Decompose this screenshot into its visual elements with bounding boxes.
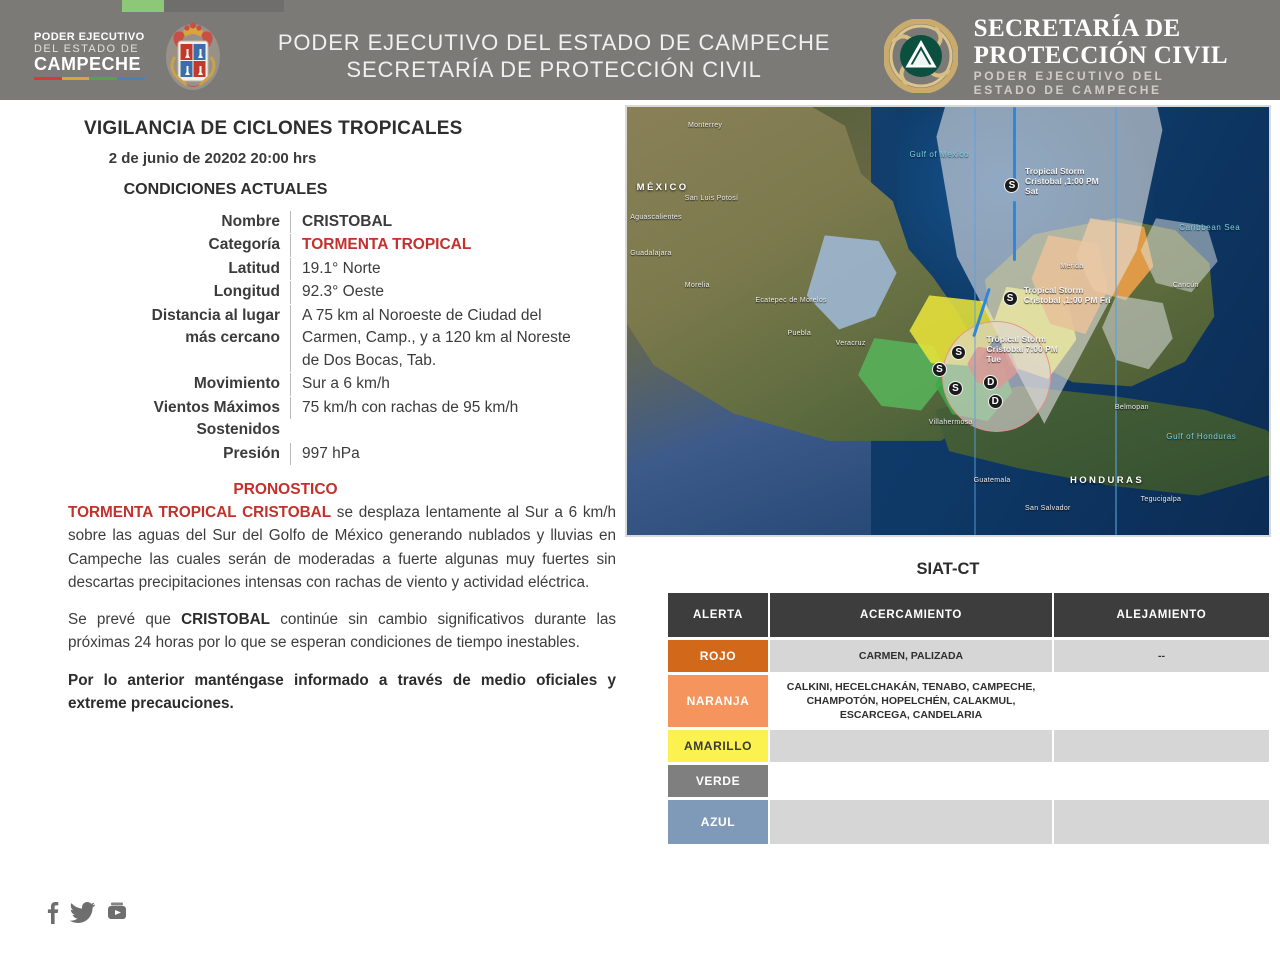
page-header: PODER EJECUTIVO DEL ESTADO DE CAMPECHE xyxy=(0,12,1280,100)
storm-marker-label: Tropical Storm Cristobal ,1:00 PM Sat xyxy=(1025,166,1099,196)
map-city-label: Tegucigalpa xyxy=(1141,496,1182,503)
fact-label: Movimiento xyxy=(118,373,290,395)
map-city-label: San Salvador xyxy=(1025,505,1071,512)
map-city-label: Belmopan xyxy=(1115,404,1149,411)
storm-marker[interactable]: D xyxy=(988,394,1003,409)
map-meridian-line-1 xyxy=(1115,107,1117,535)
top-accent-strip xyxy=(0,0,1280,12)
acercamiento-cell xyxy=(770,765,1052,797)
campeche-coat-of-arms-icon xyxy=(161,19,225,93)
fact-value: CRISTOBAL xyxy=(290,211,588,233)
fact-value: TORMENTA TROPICAL xyxy=(290,234,588,256)
forecast-paragraph-2: Se prevé que CRISTOBAL continúe sin camb… xyxy=(68,608,616,655)
alert-level-badge: AMARILLO xyxy=(668,730,768,762)
map-sea-label: Caribbean Sea xyxy=(1179,223,1240,232)
acercamiento-cell xyxy=(770,730,1052,762)
fact-row: Latitud 19.1° Norte xyxy=(118,258,588,280)
facebook-icon[interactable] xyxy=(46,900,59,924)
map-city-label: Cancún xyxy=(1173,282,1199,289)
map-city-label: Ecatepec de Morelos xyxy=(755,297,826,304)
fact-row: Vientos Máximos Sostenidos 75 km/h con r… xyxy=(118,397,588,442)
fact-label: Categoría xyxy=(118,234,290,256)
fact-label: Vientos Máximos Sostenidos xyxy=(118,397,290,442)
forecast-heading: PRONOSTICO xyxy=(0,481,611,499)
fact-label: Nombre xyxy=(118,211,290,233)
fact-value: 92.3° Oeste xyxy=(290,281,588,303)
fact-row: Categoría TORMENTA TROPICAL xyxy=(118,234,588,256)
acercamiento-cell: CARMEN, PALIZADA xyxy=(770,640,1052,672)
fact-label: Presión xyxy=(118,443,290,465)
fact-row: Presión 997 hPa xyxy=(118,443,588,465)
alejamiento-cell xyxy=(1054,800,1269,844)
youtube-icon[interactable] xyxy=(107,900,127,924)
map-and-table-column: S Tropical Storm Cristobal ,1:00 PM Sat … xyxy=(625,105,1280,958)
map-canvas: S Tropical Storm Cristobal ,1:00 PM Sat … xyxy=(627,107,1269,535)
alert-level-badge: AZUL xyxy=(668,800,768,844)
map-city-label: Veracruz xyxy=(836,340,866,347)
fact-row: Movimiento Sur a 6 km/h xyxy=(118,373,588,395)
column-header-alerta: ALERTA xyxy=(668,593,768,637)
acercamiento-cell: CALKINI, HECELCHAKÁN, TENABO, CAMPECHE, … xyxy=(770,675,1052,727)
forecast-advisory: Por lo anterior manténgase informado a t… xyxy=(68,669,616,716)
green-accent-tab xyxy=(122,0,164,12)
forecast-paragraph-1: TORMENTA TROPICAL CRISTOBAL se desplaza … xyxy=(68,501,616,594)
storm-marker[interactable]: S xyxy=(1003,291,1018,306)
social-links xyxy=(46,900,127,924)
current-conditions-list: Nombre CRISTOBAL Categoría TORMENTA TROP… xyxy=(118,211,588,465)
header-right-logo: SECRETARÍA DE PROTECCIÓN CIVIL PODER EJE… xyxy=(884,15,1228,97)
map-city-label: Mérida xyxy=(1060,263,1083,270)
alejamiento-cell xyxy=(1054,730,1269,762)
twitter-icon[interactable] xyxy=(70,900,96,924)
fact-row: Nombre CRISTOBAL xyxy=(118,211,588,233)
map-meridian-line-2 xyxy=(974,107,976,535)
table-row: ROJO CARMEN, PALIZADA -- xyxy=(668,640,1269,672)
alejamiento-cell: -- xyxy=(1054,640,1269,672)
wordmark-color-rule xyxy=(34,77,145,80)
map-sea-label: Gulf of Mexico xyxy=(909,150,969,159)
acercamiento-cell xyxy=(770,800,1052,844)
hurricane-track-map[interactable]: S Tropical Storm Cristobal ,1:00 PM Sat … xyxy=(625,105,1271,537)
campeche-wordmark: PODER EJECUTIVO DEL ESTADO DE CAMPECHE xyxy=(34,32,145,80)
fact-label: Longitud xyxy=(118,281,290,303)
map-city-label: Puebla xyxy=(788,330,812,337)
map-country-label-honduras: HONDURAS xyxy=(1070,475,1144,486)
report-datetime: 2 de junio de 20202 20:00 hrs xyxy=(0,150,611,167)
map-city-label: Guadalajara xyxy=(630,250,671,257)
pc-line2: PROTECCIÓN CIVIL xyxy=(974,42,1228,69)
storm-marker[interactable]: S xyxy=(932,362,947,377)
siat-table-title: SIAT-CT xyxy=(625,560,1271,579)
map-city-label: Monterrey xyxy=(688,122,722,129)
forecast-storm-name: TORMENTA TROPICAL CRISTOBAL xyxy=(68,504,331,521)
map-city-label: Villahermosa xyxy=(929,419,973,426)
fact-label: Distancia al lugar más cercano xyxy=(118,305,290,350)
wordmark-line1: PODER EJECUTIVO xyxy=(34,32,145,44)
table-row: NARANJA CALKINI, HECELCHAKÁN, TENABO, CA… xyxy=(668,675,1269,727)
alert-level-badge: VERDE xyxy=(668,765,768,797)
fact-label: Latitud xyxy=(118,258,290,280)
table-row: AMARILLO xyxy=(668,730,1269,762)
alert-level-badge: ROJO xyxy=(668,640,768,672)
alejamiento-cell xyxy=(1054,765,1269,797)
alejamiento-cell xyxy=(1054,675,1269,727)
map-city-label: Guatemala xyxy=(974,477,1011,484)
pc-line1: SECRETARÍA DE xyxy=(974,15,1228,42)
wordmark-line3: CAMPECHE xyxy=(34,55,145,74)
fact-value: 997 hPa xyxy=(290,443,588,465)
header-title-line1: PODER EJECUTIVO DEL ESTADO DE CAMPECHE xyxy=(225,29,884,57)
map-country-label-mexico: MÉXICO xyxy=(637,182,689,193)
section-title-current-conditions: CONDICIONES ACTUALES xyxy=(0,181,611,199)
fact-value: Sur a 6 km/h xyxy=(290,373,588,395)
storm-marker-label: Tropical Storm Cristobal 7:00 PM Tue xyxy=(987,334,1058,364)
map-city-label: San Luis Potosí xyxy=(685,195,739,202)
siat-alert-table: ALERTA ACERCAMIENTO ALEJAMIENTO ROJO CAR… xyxy=(666,590,1271,847)
proteccion-civil-wordmark: SECRETARÍA DE PROTECCIÓN CIVIL PODER EJE… xyxy=(974,15,1228,97)
storm-marker[interactable]: S xyxy=(948,381,963,396)
map-city-label: Aguascalientes xyxy=(630,214,682,221)
pc-line4: ESTADO DE CAMPECHE xyxy=(974,84,1228,97)
map-city-label: Morelia xyxy=(685,282,710,289)
map-sea-label: Gulf of Honduras xyxy=(1166,432,1236,441)
pc-line3: PODER EJECUTIVO DEL xyxy=(974,70,1228,83)
fact-value: 19.1° Norte xyxy=(290,258,588,280)
table-header-row: ALERTA ACERCAMIENTO ALEJAMIENTO xyxy=(668,593,1269,637)
header-left-logo: PODER EJECUTIVO DEL ESTADO DE CAMPECHE xyxy=(34,19,225,93)
forecast-p2-pre: Se prevé que xyxy=(68,611,181,628)
storm-marker[interactable]: D xyxy=(983,375,998,390)
fact-row: Longitud 92.3° Oeste xyxy=(118,281,588,303)
page-title: VIGILANCIA DE CICLONES TROPICALES xyxy=(84,118,611,140)
report-column: VIGILANCIA DE CICLONES TROPICALES 2 de j… xyxy=(0,100,625,958)
column-header-alejamiento: ALEJAMIENTO xyxy=(1054,593,1269,637)
header-title-line2: SECRETARÍA DE PROTECCIÓN CIVIL xyxy=(225,56,884,84)
header-title-block: PODER EJECUTIVO DEL ESTADO DE CAMPECHE S… xyxy=(225,29,884,84)
fact-row: Distancia al lugar más cercano A 75 km a… xyxy=(118,305,588,372)
forecast-p2-storm-name: CRISTOBAL xyxy=(181,611,270,628)
fact-value: A 75 km al Noroeste de Ciudad del Carmen… xyxy=(290,305,588,372)
alert-level-badge: NARANJA xyxy=(668,675,768,727)
infographic-page: PODER EJECUTIVO DEL ESTADO DE CAMPECHE xyxy=(0,0,1280,958)
proteccion-civil-seal-icon xyxy=(884,19,958,93)
table-row: AZUL xyxy=(668,800,1269,844)
column-header-acercamiento: ACERCAMIENTO xyxy=(770,593,1052,637)
fact-value: 75 km/h con rachas de 95 km/h xyxy=(290,397,588,419)
table-row: VERDE xyxy=(668,765,1269,797)
storm-marker-label: Tropical Storm Cristobal ,1:00 PM Fri xyxy=(1024,285,1111,305)
storm-marker[interactable]: S xyxy=(951,345,966,360)
gray-accent-tab xyxy=(164,0,284,12)
